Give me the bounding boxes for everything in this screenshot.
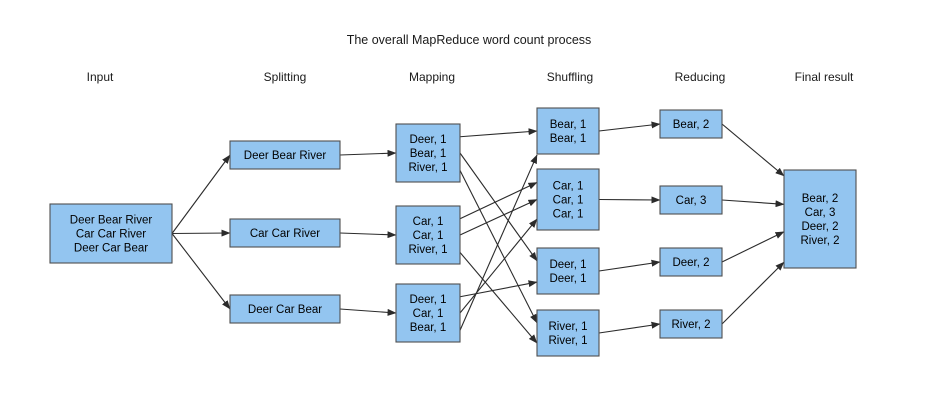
shuffle-box-bear-rect[interactable] [537,108,599,154]
edge-input-to-split-3 [172,234,230,310]
stage-label-shuffling: Shuffling [547,70,593,84]
shuffle-box-car-line: Car, 1 [553,195,584,207]
map-box-2-line: Car, 1 [413,230,444,242]
final-result-box-rect[interactable] [784,170,856,268]
shuffle-box-car-line: Car, 1 [553,181,584,193]
edge-shuffle-river-to-reduce [599,324,660,333]
edge-shuffle-car-to-reduce [599,200,660,201]
stage-label-mapping: Mapping [409,70,455,84]
edge-input-to-split-1 [172,155,230,234]
input-box-line: Car Car River [76,229,146,241]
final-result-box-line: River, 2 [801,235,840,247]
shuffle-box-deer[interactable]: Deer, 1Deer, 1 [537,248,599,294]
stage-label-reducing: Reducing [675,70,726,84]
final-result-box-line: Deer, 2 [801,221,838,233]
shuffle-box-car[interactable]: Car, 1Car, 1Car, 1 [537,169,599,230]
edge-reduce-bear-to-final [722,124,784,176]
final-result-box-line: Bear, 2 [802,193,838,205]
edge-map-1-deer [460,153,537,261]
map-box-1-line: Deer, 1 [409,134,446,146]
shuffle-box-car-line: Car, 1 [553,209,584,221]
shuffle-box-river-rect[interactable] [537,310,599,356]
edge-reduce-deer-to-final [722,232,784,262]
edge-input-to-split-2 [172,233,230,234]
edge-map-2-car-b [460,200,537,236]
split-box-1[interactable]: Deer Bear River [230,141,340,169]
map-box-1-line: Bear, 1 [410,148,446,160]
edge-map-3-bear [460,155,537,330]
edge-map-1-bear [460,131,537,137]
shuffle-box-river-line: River, 1 [549,321,588,333]
map-box-2[interactable]: Car, 1Car, 1River, 1 [396,206,460,264]
stage-label-row: InputSplittingMappingShufflingReducingFi… [87,70,854,84]
shuffle-box-river-line: River, 1 [549,335,588,347]
shuffle-box-bear[interactable]: Bear, 1Bear, 1 [537,108,599,154]
reduce-box-river[interactable]: River, 2 [660,310,722,338]
reduce-box-river-line: River, 2 [672,319,711,331]
stage-label-final-result: Final result [795,70,854,84]
page-title: The overall MapReduce word count process [347,33,592,47]
edge-reduce-river-to-final [722,262,784,324]
edge-map-3-deer [460,282,537,297]
edge-map-1-river [460,170,537,322]
map-box-1-line: River, 1 [409,162,448,174]
map-box-1[interactable]: Deer, 1Bear, 1River, 1 [396,124,460,182]
map-box-3[interactable]: Deer, 1Car, 1Bear, 1 [396,284,460,342]
shuffle-box-deer-line: Deer, 1 [549,273,586,285]
reduce-box-bear-line: Bear, 2 [673,119,709,131]
edge-reduce-car-to-final [722,200,784,204]
reduce-box-car-line: Car, 3 [676,195,707,207]
map-box-2-line: River, 1 [409,244,448,256]
edge-shuffle-deer-to-reduce [599,262,660,271]
reduce-box-car[interactable]: Car, 3 [660,186,722,214]
input-box[interactable]: Deer Bear RiverCar Car RiverDeer Car Bea… [50,204,172,263]
map-box-2-line: Car, 1 [413,216,444,228]
edge-split-2-to-map-2 [340,233,396,235]
shuffle-box-bear-line: Bear, 1 [550,133,586,145]
reduce-box-deer-line: Deer, 2 [672,257,709,269]
split-box-1-line: Deer Bear River [244,150,327,162]
edge-map-2-car-a [460,182,537,218]
stage-label-input: Input [87,70,114,84]
final-result-box[interactable]: Bear, 2Car, 3Deer, 2River, 2 [784,170,856,268]
mapreduce-diagram: The overall MapReduce word count process… [0,0,938,401]
split-box-2[interactable]: Car Car River [230,219,340,247]
map-box-3-line: Deer, 1 [409,294,446,306]
edge-shuffle-bear-to-reduce [599,124,660,131]
final-result-box-line: Car, 3 [805,207,836,219]
shuffle-box-deer-line: Deer, 1 [549,259,586,271]
shuffle-box-river[interactable]: River, 1River, 1 [537,310,599,356]
edge-split-1-to-map-1 [340,153,396,155]
split-box-2-line: Car Car River [250,228,320,240]
split-box-3[interactable]: Deer Car Bear [230,295,340,323]
map-box-3-line: Bear, 1 [410,322,446,334]
map-box-3-line: Car, 1 [413,308,444,320]
shuffle-box-bear-line: Bear, 1 [550,119,586,131]
input-box-line: Deer Bear River [70,215,153,227]
split-box-3-line: Deer Car Bear [248,304,322,316]
shuffle-box-deer-rect[interactable] [537,248,599,294]
diagram-canvas: The overall MapReduce word count process… [0,0,938,401]
nodes-layer: Deer Bear RiverCar Car RiverDeer Car Bea… [50,108,856,356]
reduce-box-bear[interactable]: Bear, 2 [660,110,722,138]
reduce-box-deer[interactable]: Deer, 2 [660,248,722,276]
edge-split-3-to-map-3 [340,309,396,313]
input-box-line: Deer Car Bear [74,243,148,255]
stage-label-splitting: Splitting [264,70,307,84]
